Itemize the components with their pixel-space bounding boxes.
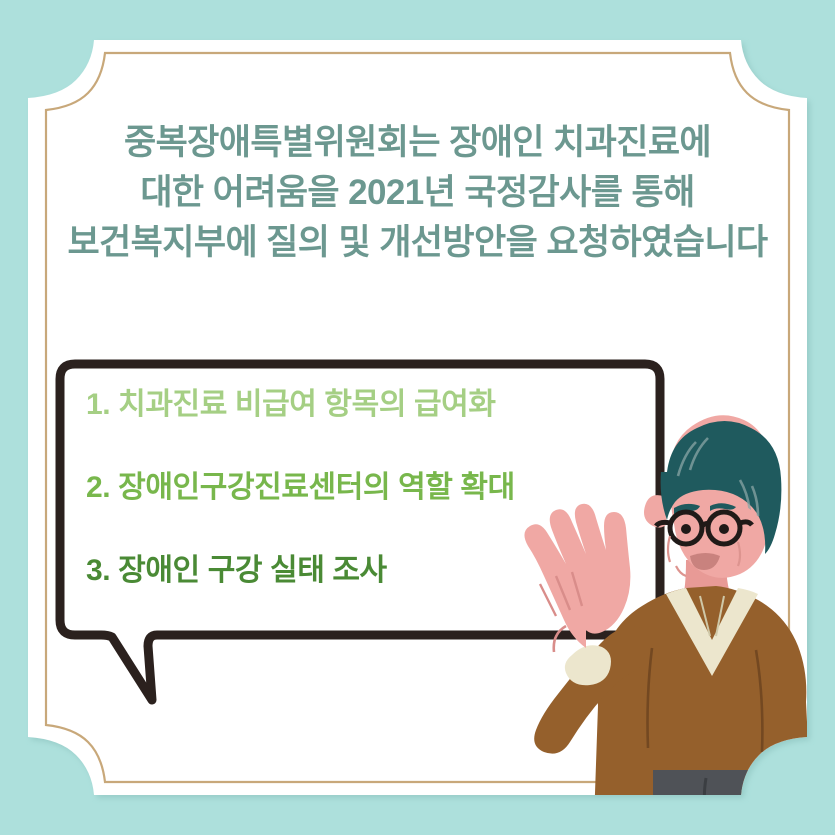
infographic-card: 중복장애특별위원회는 장애인 치과진료에 대한 어려움을 2021년 국정감사를… [0, 0, 835, 835]
person-illustration [0, 0, 835, 835]
trousers [653, 770, 763, 835]
left-hand [524, 504, 630, 648]
thumb-crease [554, 626, 566, 652]
